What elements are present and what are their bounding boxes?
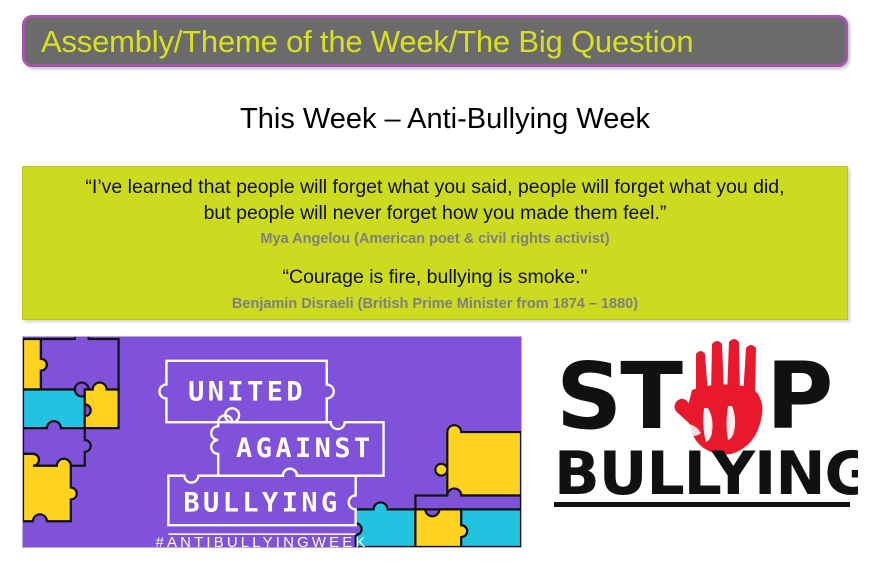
stop-word-part1: ST bbox=[556, 343, 683, 450]
slide-subheading: This Week – Anti-Bullying Week bbox=[0, 103, 890, 136]
quote-line: but people will never forget how you mad… bbox=[33, 201, 837, 227]
hashtag-text: #ANTIBULLYINGWEEK bbox=[156, 535, 369, 547]
page-title: Assembly/Theme of the Week/The Big Quest… bbox=[25, 26, 693, 57]
bullying-word: BULLYING bbox=[554, 439, 858, 509]
bullying-word: BULLYING bbox=[183, 487, 340, 518]
quote-box: “I’ve learned that people will forget wh… bbox=[22, 166, 848, 320]
against-word: AGAINST bbox=[236, 433, 374, 464]
united-word: UNITED bbox=[188, 376, 306, 407]
stop-bullying-graphic: ST P BULLYING bbox=[548, 336, 858, 521]
quote-attribution: Mya Angelou (American poet & civil right… bbox=[33, 231, 837, 247]
stop-word-part2: P bbox=[766, 343, 831, 450]
stop-bullying-logo-image: ST P BULLYING bbox=[548, 336, 858, 521]
quote-block-angelou: “I’ve learned that people will forget wh… bbox=[33, 175, 837, 247]
logo-underline bbox=[554, 502, 850, 507]
quote-attribution: Benjamin Disraeli (British Prime Ministe… bbox=[33, 296, 837, 312]
puzzle-banner-graphic: UNITED AGAINST BULLYING #ANTIBULLYINGWEE… bbox=[23, 337, 521, 547]
united-against-bullying-banner-image: UNITED AGAINST BULLYING #ANTIBULLYINGWEE… bbox=[22, 336, 522, 548]
slide-title-banner: Assembly/Theme of the Week/The Big Quest… bbox=[22, 15, 848, 67]
quote-block-disraeli: “Courage is fire, bullying is smoke." Be… bbox=[33, 265, 837, 312]
quote-line: “I’ve learned that people will forget wh… bbox=[33, 175, 837, 201]
quote-line: “Courage is fire, bullying is smoke." bbox=[33, 265, 837, 291]
